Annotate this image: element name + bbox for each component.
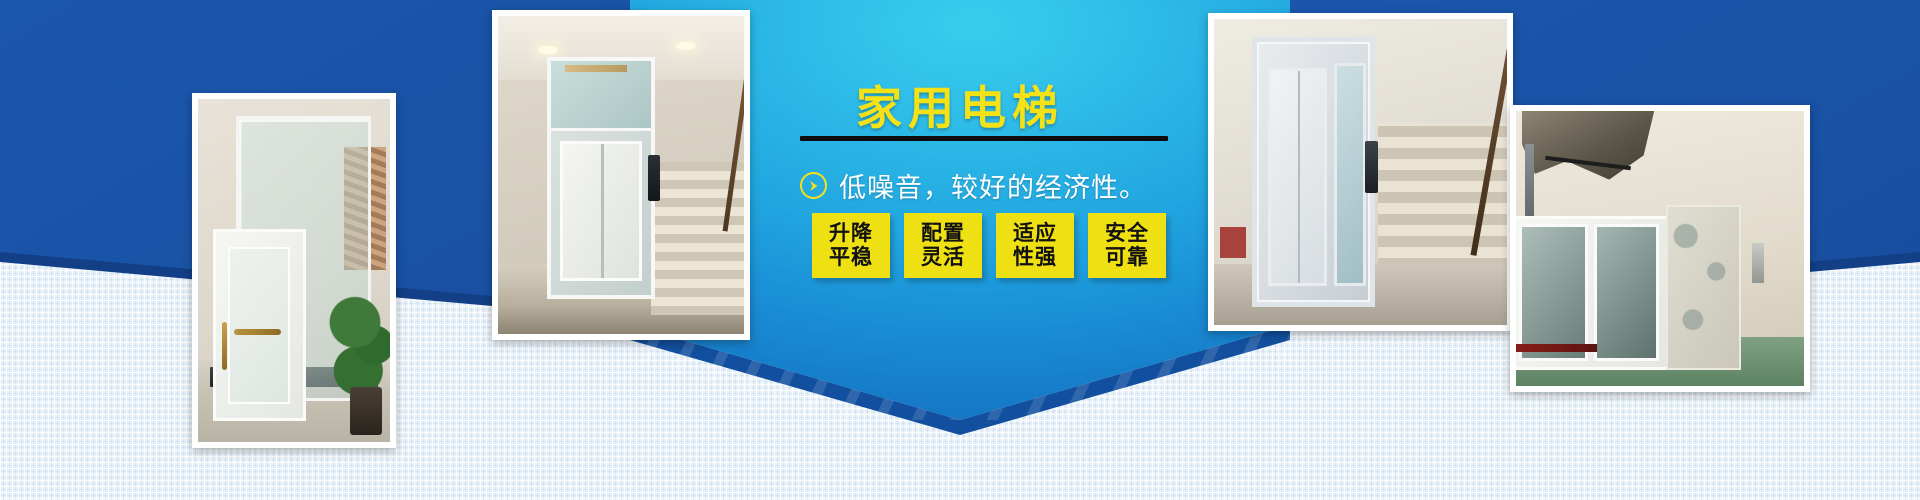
subtitle-row: 低噪音，较好的经济性。 xyxy=(800,166,1147,205)
badge-line-1: 安全 xyxy=(1105,222,1149,246)
feature-badge-list: 升降 平稳 配置 灵活 适应 性强 安全 可靠 xyxy=(812,213,1166,278)
home-elevator-banner: 家用电梯 低噪音，较好的经济性。 升降 平稳 配置 灵活 适应 性强 xyxy=(0,0,1920,500)
badge-line-1: 适应 xyxy=(1013,222,1057,246)
feature-badge[interactable]: 配置 灵活 xyxy=(904,213,982,278)
photo-elevator-stairs-lit[interactable] xyxy=(492,10,750,340)
badge-line-1: 配置 xyxy=(921,222,965,246)
circle-arrow-right-icon xyxy=(800,172,827,199)
feature-badge[interactable]: 安全 可靠 xyxy=(1088,213,1166,278)
badge-line-1: 升降 xyxy=(829,222,873,246)
feature-badge[interactable]: 升降 平稳 xyxy=(812,213,890,278)
photo-install-unfinished[interactable] xyxy=(1510,105,1810,392)
badge-line-2: 灵活 xyxy=(921,246,965,270)
photo-image xyxy=(1214,19,1507,325)
photo-image xyxy=(1516,111,1804,386)
photo-image xyxy=(198,99,390,442)
banner-subtitle: 低噪音，较好的经济性。 xyxy=(839,166,1147,205)
photo-image xyxy=(498,16,744,334)
feature-badge[interactable]: 适应 性强 xyxy=(996,213,1074,278)
badge-line-2: 平稳 xyxy=(829,246,873,270)
title-divider-rule xyxy=(800,136,1168,141)
photo-stainless-elevator-marble[interactable] xyxy=(1208,13,1513,331)
photo-glass-elevator-hallway[interactable] xyxy=(192,93,396,448)
badge-line-2: 性强 xyxy=(1013,246,1057,270)
badge-line-2: 可靠 xyxy=(1105,246,1149,270)
